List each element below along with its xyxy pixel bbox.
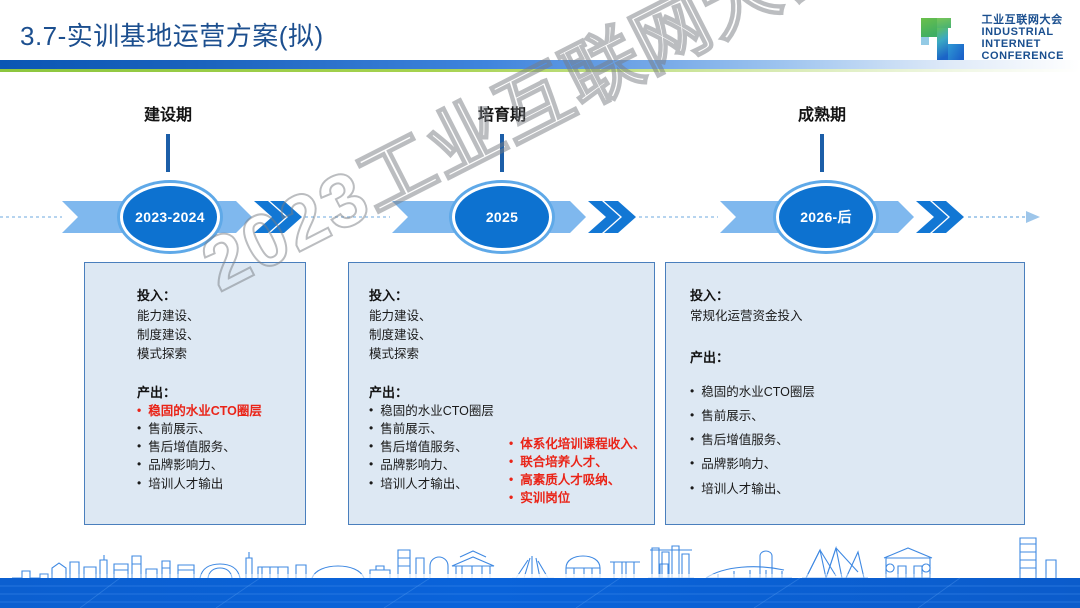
header-rule-green [0,69,1080,72]
list-item-label: 高素质人才吸纳、 [520,471,620,489]
bullet-dot-icon: • [690,431,694,448]
list-item: • 培训人才输出、 [690,480,815,498]
bullet-dot-icon: • [690,455,694,472]
bullet-dot-icon: • [509,489,513,506]
input-line-2-1: 能力建设、 [369,305,432,324]
phase-marker-2[interactable]: 2025 [455,186,549,248]
bullet-dot-icon: • [509,435,513,452]
conference-logo: 工业互联网大会 INDUSTRIAL INTERNET CONFERENCE [918,14,1064,64]
list-item-label: 售后增值服务、 [701,431,789,449]
list-item-label: 售前展示、 [380,420,443,438]
list-item: • 品牌影响力、 [369,456,494,474]
input-heading-2: 投入： [369,285,408,304]
list-item-label: 体系化培训课程收入、 [520,435,645,453]
input-heading-3: 投入： [690,285,729,304]
list-item-label: 培训人才输出、 [701,480,789,498]
output-heading-3: 产出： [690,347,729,366]
input-heading-1: 投入： [137,285,176,304]
list-item-label: 培训人才输出 [148,475,223,493]
list-item-label: 稳固的水业CTO圈层 [148,402,262,420]
output-list-2-extra: • 体系化培训课程收入、 • 联合培养人才、 • 高素质人才吸纳、 • 实训岗位 [509,435,645,508]
bullet-dot-icon: • [369,456,373,473]
phase-label-2: 培育期 [478,101,526,125]
input-line-2-2: 制度建设、 [369,324,432,343]
list-item-label: 稳固的水业CTO圈层 [701,383,815,401]
list-item: • 实训岗位 [509,489,645,507]
phase-marker-3[interactable]: 2026-后 [779,186,873,248]
list-item-label: 品牌影响力、 [148,456,223,474]
footer-skyline [0,530,1080,608]
bullet-dot-icon: • [369,438,373,455]
bullet-dot-icon: • [137,438,141,455]
input-line-2-3: 模式探索 [369,343,419,362]
list-item: • 售后增值服务、 [369,438,494,456]
input-line-1-3: 模式探索 [137,343,187,362]
list-item: • 培训人才输出 [137,475,262,493]
bullet-dot-icon: • [690,407,694,424]
logo-line-conference: CONFERENCE [981,51,1064,63]
list-item: • 高素质人才吸纳、 [509,471,645,489]
output-heading-2: 产出： [369,382,408,401]
slide-canvas: 3.7-实训基地运营方案(拟) [0,0,1080,608]
input-line-1-2: 制度建设、 [137,324,200,343]
list-item: • 品牌影响力、 [137,456,262,474]
bullet-dot-icon: • [509,471,513,488]
bullet-dot-icon: • [369,420,373,437]
list-item: • 稳固的水业CTO圈层 [690,383,815,401]
bullet-dot-icon: • [509,453,513,470]
bullet-dot-icon: • [369,475,373,492]
phase-period-1: 2023-2024 [135,209,205,225]
list-item: • 稳固的水业CTO圈层 [369,402,494,420]
list-item: • 品牌影响力、 [690,455,815,473]
list-item: • 售后增值服务、 [690,431,815,449]
bullet-dot-icon: • [137,475,141,492]
list-item-label: 品牌影响力、 [701,455,776,473]
phase-detail-box-3: 投入： 常规化运营资金投入 产出： • 稳固的水业CTO圈层 • 售前展示、 •… [665,262,1025,525]
phase-detail-box-1: 投入： 能力建设、 制度建设、 模式探索 产出： • 稳固的水业CTO圈层 • … [84,262,306,525]
list-item-label: 售后增值服务、 [380,438,468,456]
phase-stem-3 [820,134,824,172]
output-list-3: • 稳固的水业CTO圈层 • 售前展示、 • 售后增值服务、 • 品牌影响力、 … [690,383,815,498]
list-item-label: 培训人才输出、 [380,475,468,493]
list-item: • 稳固的水业CTO圈层 [137,402,262,420]
output-heading-1: 产出： [137,382,176,401]
bullet-dot-icon: • [137,402,141,419]
logo-mark-icon [918,14,972,64]
list-item: • 培训人才输出、 [369,475,494,493]
bullet-dot-icon: • [137,456,141,473]
list-item: • 售前展示、 [369,420,494,438]
page-title: 3.7-实训基地运营方案(拟) [20,16,324,53]
list-item-label: 稳固的水业CTO圈层 [380,402,494,420]
list-item: • 联合培养人才、 [509,453,645,471]
list-item-label: 售前展示、 [148,420,211,438]
bullet-dot-icon: • [690,383,694,400]
phase-marker-1[interactable]: 2023-2024 [123,186,217,248]
input-line-1-1: 能力建设、 [137,305,200,324]
phase-label-3: 成熟期 [798,101,846,125]
bullet-dot-icon: • [690,480,694,497]
input-line-3-1: 常规化运营资金投入 [690,305,803,324]
phase-detail-box-2: 投入： 能力建设、 制度建设、 模式探索 产出： • 稳固的水业CTO圈层 • … [348,262,655,525]
phase-stem-1 [166,134,170,172]
list-item-label: 联合培养人才、 [520,453,608,471]
logo-wordmark: 工业互联网大会 INDUSTRIAL INTERNET CONFERENCE [981,15,1064,63]
bullet-dot-icon: • [369,402,373,419]
phase-label-1: 建设期 [144,101,192,125]
list-item: • 售前展示、 [690,407,815,425]
phase-period-2: 2025 [486,209,518,225]
list-item-label: 实训岗位 [520,489,570,507]
list-item: • 售前展示、 [137,420,262,438]
phase-period-3: 2026-后 [800,207,852,227]
list-item: • 售后增值服务、 [137,438,262,456]
list-item-label: 售前展示、 [701,407,764,425]
bullet-dot-icon: • [137,420,141,437]
list-item: • 体系化培训课程收入、 [509,435,645,453]
output-list-1: • 稳固的水业CTO圈层 • 售前展示、 • 售后增值服务、 • 品牌影响力、 … [137,402,262,493]
phase-stem-2 [500,134,504,172]
list-item-label: 售后增值服务、 [148,438,236,456]
output-list-2: • 稳固的水业CTO圈层 • 售前展示、 • 售后增值服务、 • 品牌影响力、 … [369,402,494,493]
list-item-label: 品牌影响力、 [380,456,455,474]
